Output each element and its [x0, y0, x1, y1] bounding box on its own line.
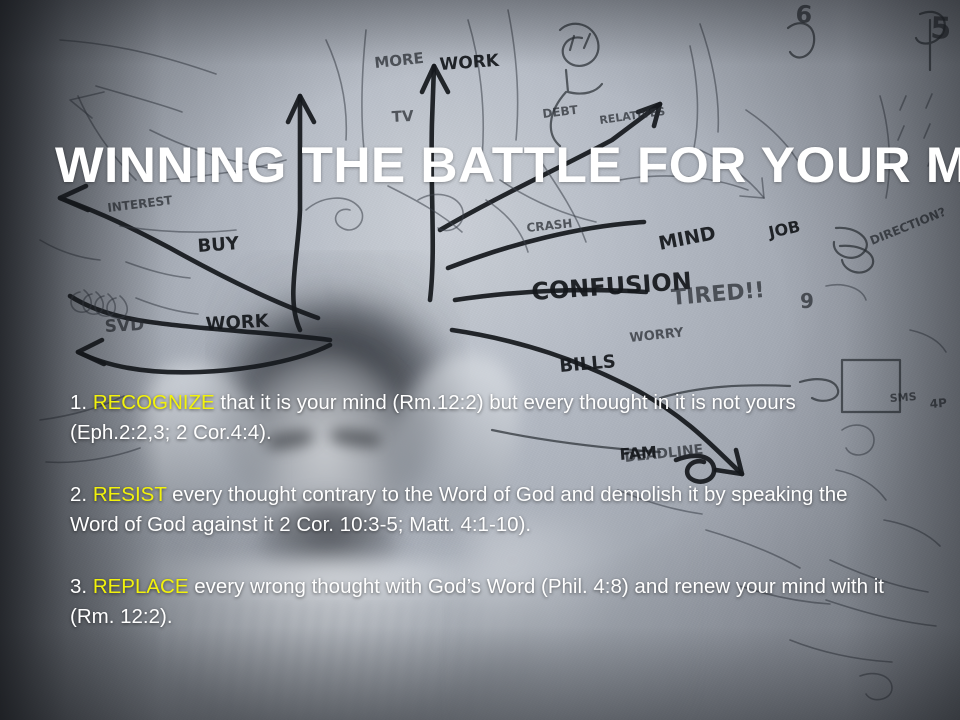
- slide-title: WINNING THE BATTLE FOR YOUR MIND: [55, 139, 941, 191]
- slide-body-text: 1. RECOGNIZE that it is your mind (Rm.12…: [70, 388, 900, 631]
- point-3: 3. REPLACE every wrong thought with God’…: [70, 572, 900, 631]
- point-3-keyword: REPLACE: [93, 575, 189, 598]
- point-2-keyword: RESIST: [93, 483, 167, 506]
- point-1-number: 1.: [70, 391, 87, 414]
- point-3-number: 3.: [70, 575, 87, 598]
- point-3-text: every wrong thought with God’s Word (Phi…: [70, 575, 884, 628]
- point-2-text: every thought contrary to the Word of Go…: [70, 483, 848, 536]
- point-2-number: 2.: [70, 483, 87, 506]
- presentation-slide: MOREWORKTVDEBTRELATIVESINTERESTBUYSVDWOR…: [0, 0, 960, 720]
- point-1: 1. RECOGNIZE that it is your mind (Rm.12…: [70, 388, 900, 447]
- point-1-keyword: RECOGNIZE: [93, 391, 215, 414]
- point-2: 2. RESIST every thought contrary to the …: [70, 480, 900, 539]
